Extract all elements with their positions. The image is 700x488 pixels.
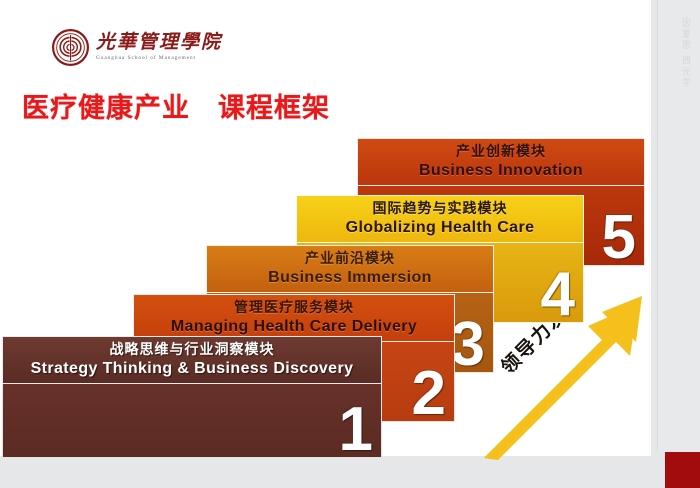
step-1-header: 战略思维与行业洞察模块 Strategy Thinking & Business… (2, 336, 382, 384)
logo-english-name: Guanghua School of Management (96, 54, 222, 62)
step-5-number: 5 (602, 207, 636, 269)
step-4-label-en: Globalizing Health Care (346, 218, 535, 237)
step-3-label-en: Business Immersion (268, 268, 432, 287)
step-5-label-cn: 产业创新模块 (456, 143, 546, 160)
step-1-label-en: Strategy Thinking & Business Discovery (31, 359, 354, 378)
step-1-number: 1 (339, 399, 373, 461)
school-logo: 光華管理學院 Guanghua School of Management (52, 24, 202, 70)
step-4-label-cn: 国际趋势与实践模块 (373, 200, 508, 217)
step-3-header: 产业前沿模块 Business Immersion (206, 245, 494, 293)
step-3-number: 3 (451, 314, 485, 376)
step-5-header: 产业创新模块 Business Innovation (357, 138, 645, 186)
page-title: 医疗健康产业 课程框架 (22, 86, 330, 125)
logo-chinese-name: 光華管理學院 (96, 32, 222, 53)
bottom-right-corner-block (665, 452, 700, 488)
step-5-label-en: Business Innovation (419, 161, 583, 180)
logo-wordmark: 光華管理學院 Guanghua School of Management (96, 29, 222, 66)
step-2-label-en: Managing Health Care Delivery (171, 317, 417, 336)
step-1-label-cn: 战略思维与行业洞察模块 (110, 341, 275, 358)
step-2-number: 2 (412, 363, 446, 425)
step-block-1[interactable]: 1 战略思维与行业洞察模块 Strategy Thinking & Busine… (2, 336, 382, 458)
step-3-label-cn: 产业前沿模块 (305, 250, 395, 267)
step-2-header: 管理医疗服务模块 Managing Health Care Delivery (133, 294, 455, 342)
guanghua-seal-icon (52, 29, 89, 66)
step-2-label-cn: 管理医疗服务模块 (234, 299, 354, 316)
sidebar-vertical-watermark: 因爱思 西光学 (666, 18, 692, 98)
step-4-header: 国际趋势与实践模块 Globalizing Health Care (296, 195, 584, 243)
slide-canvas: 因爱思 西光学 光華管理學院 Guanghua School of Manage… (0, 0, 700, 488)
step-4-number: 4 (541, 264, 575, 326)
